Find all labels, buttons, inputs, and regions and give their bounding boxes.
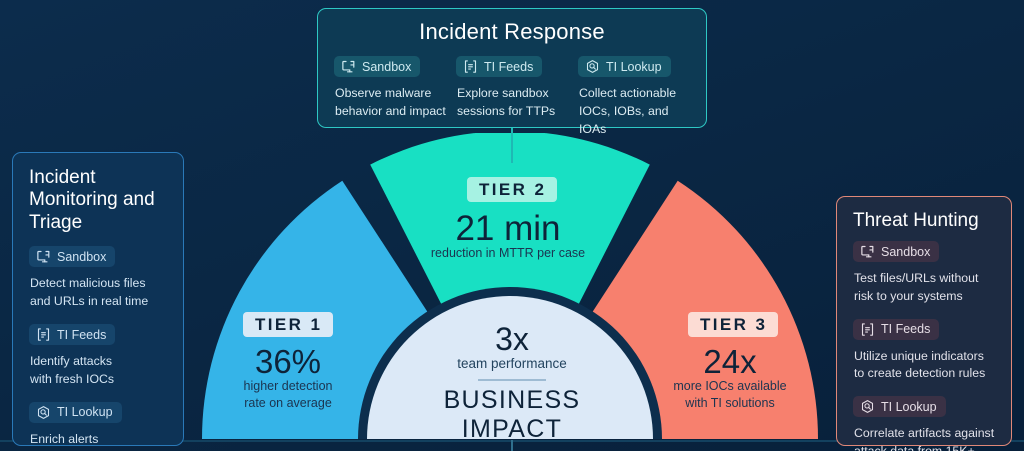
im-sandbox-desc: Detect malicious files and URLs in real … xyxy=(30,275,169,311)
card-threat-hunting: Threat Hunting Sandbox Test files/URLs w… xyxy=(836,196,1012,446)
chip-ti-feeds[interactable]: TI Feeds xyxy=(29,324,115,345)
chip-ti-lookup-label: TI Lookup xyxy=(606,61,662,74)
tier1-value: 36% xyxy=(218,345,358,378)
hub-title: BUSINESS IMPACT xyxy=(406,386,618,444)
chip-ti-feeds-label: TI Feeds xyxy=(57,329,106,342)
chip-ti-lookup-label: TI Lookup xyxy=(57,406,113,419)
tier2-badge: TIER 2 xyxy=(467,177,557,202)
im-item-ti-feeds: TI Feeds Identify attacks with fresh IOC… xyxy=(29,324,169,389)
sandbox-monitor-icon xyxy=(860,244,875,259)
chip-sandbox[interactable]: Sandbox xyxy=(334,56,420,77)
ti-feeds-document-icon xyxy=(860,322,875,337)
hub-multiplier: 3x xyxy=(438,323,586,355)
chip-sandbox-label: Sandbox xyxy=(57,251,106,264)
ti-feeds-document-icon xyxy=(463,59,478,74)
th-sandbox-desc: Test files/URLs without risk to your sys… xyxy=(854,270,999,306)
chip-sandbox[interactable]: Sandbox xyxy=(853,241,939,262)
chip-ti-lookup[interactable]: TI Lookup xyxy=(29,402,122,423)
ir-ti-lookup-desc: Collect actionable IOCs, IOBs, and IOAs xyxy=(579,85,690,138)
ti-feeds-document-icon xyxy=(36,327,51,342)
im-ti-feeds-desc: Identify attacks with fresh IOCs xyxy=(30,353,169,389)
im-item-sandbox: Sandbox Detect malicious files and URLs … xyxy=(29,246,169,311)
ir-item-ti-lookup: TI Lookup Collect actionable IOCs, IOBs,… xyxy=(578,56,690,138)
card-incident-response-title: Incident Response xyxy=(334,19,690,45)
chip-sandbox-label: Sandbox xyxy=(362,61,411,74)
im-item-ti-lookup: TI Lookup Enrich alerts with threat cont… xyxy=(29,402,169,451)
chip-sandbox[interactable]: Sandbox xyxy=(29,246,115,267)
card-incident-response: Incident Response Sandbox Observe malwar… xyxy=(317,8,707,128)
tier3-value: 24x xyxy=(660,345,800,378)
tier2-caption: reduction in MTTR per case xyxy=(413,245,603,262)
infographic-canvas: TIER 1 36% higher detection rate on aver… xyxy=(0,0,1024,451)
ti-lookup-hex-search-icon xyxy=(860,399,875,414)
tier3-badge: TIER 3 xyxy=(688,312,778,337)
hub-divider xyxy=(478,379,546,381)
th-ti-feeds-desc: Utilize unique indicators to create dete… xyxy=(854,348,999,384)
chip-sandbox-label: Sandbox xyxy=(881,246,930,259)
ir-item-sandbox: Sandbox Observe malware behavior and imp… xyxy=(334,56,446,138)
sandbox-monitor-icon xyxy=(36,249,51,264)
tier1-caption: higher detection rate on average xyxy=(214,378,362,412)
chip-ti-lookup-label: TI Lookup xyxy=(881,401,937,414)
th-ti-lookup-desc: Correlate artifacts against attack data … xyxy=(854,425,999,451)
ti-lookup-hex-search-icon xyxy=(36,405,51,420)
th-item-sandbox: Sandbox Test files/URLs without risk to … xyxy=(853,241,999,306)
th-item-ti-lookup: TI Lookup Correlate artifacts against at… xyxy=(853,396,999,451)
chip-ti-lookup[interactable]: TI Lookup xyxy=(578,56,671,77)
card-incident-monitoring: Incident Monitoring and Triage Sandbox D… xyxy=(12,152,184,446)
im-ti-lookup-desc: Enrich alerts with threat context xyxy=(30,431,169,451)
card-threat-hunting-title: Threat Hunting xyxy=(853,210,999,232)
ti-lookup-hex-search-icon xyxy=(585,59,600,74)
tier2-value: 21 min xyxy=(428,211,588,246)
chip-ti-feeds-label: TI Feeds xyxy=(881,323,930,336)
chip-ti-feeds[interactable]: TI Feeds xyxy=(456,56,542,77)
chip-ti-feeds[interactable]: TI Feeds xyxy=(853,319,939,340)
tier3-caption: more IOCs available with TI solutions xyxy=(655,378,805,412)
ir-sandbox-desc: Observe malware behavior and impact xyxy=(335,85,446,121)
sandbox-monitor-icon xyxy=(341,59,356,74)
ir-ti-feeds-desc: Explore sandbox sessions for TTPs xyxy=(457,85,568,121)
chip-ti-lookup[interactable]: TI Lookup xyxy=(853,396,946,417)
th-item-ti-feeds: TI Feeds Utilize unique indicators to cr… xyxy=(853,319,999,384)
hub-caption: team performance xyxy=(418,356,606,371)
chip-ti-feeds-label: TI Feeds xyxy=(484,61,533,74)
ir-item-ti-feeds: TI Feeds Explore sandbox sessions for TT… xyxy=(456,56,568,138)
tier1-badge: TIER 1 xyxy=(243,312,333,337)
card-incident-monitoring-title: Incident Monitoring and Triage xyxy=(29,167,169,234)
